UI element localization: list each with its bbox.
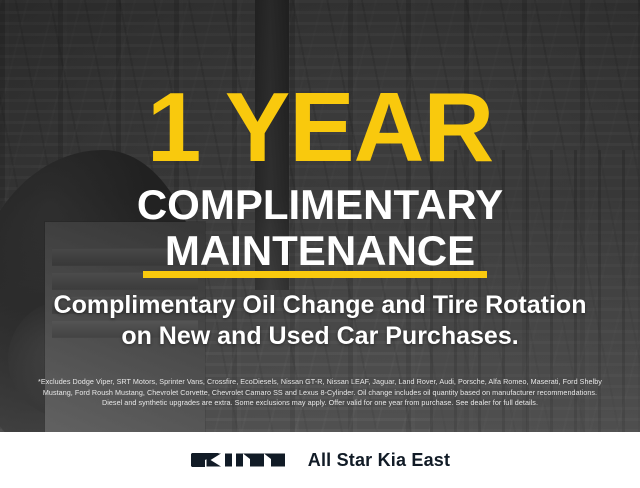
headline-primary: 1 YEAR [0, 78, 640, 176]
subheadline: Complimentary Oil Change and Tire Rotati… [0, 290, 640, 352]
hero-section: 1 YEAR COMPLIMENTARY MAINTENANCE Complim… [0, 0, 640, 432]
promo-banner: 1 YEAR COMPLIMENTARY MAINTENANCE Complim… [0, 0, 640, 488]
subheadline-line2: on New and Used Car Purchases. [0, 321, 640, 352]
headline-secondary: COMPLIMENTARY MAINTENANCE [0, 182, 640, 274]
disclaimer-line-2: Mustang, Ford Roush Mustang, Chevrolet C… [14, 388, 626, 399]
kia-logo [190, 447, 286, 473]
subheadline-line1: Complimentary Oil Change and Tire Rotati… [54, 291, 587, 319]
dealer-name: All Star Kia East [308, 450, 450, 471]
brand-footer: All Star Kia East [0, 432, 640, 488]
headline-secondary-line1: COMPLIMENTARY [137, 181, 503, 228]
hero-copy: 1 YEAR COMPLIMENTARY MAINTENANCE Complim… [0, 0, 640, 432]
disclaimer-line-1: *Excludes Dodge Viper, SRT Motors, Sprin… [14, 377, 626, 388]
disclaimer-text: *Excludes Dodge Viper, SRT Motors, Sprin… [14, 377, 626, 409]
headline-secondary-line2: MAINTENANCE [0, 228, 640, 274]
disclaimer-line-3: Diesel and synthetic upgrades are extra.… [14, 398, 626, 409]
yellow-divider-bar [143, 271, 487, 278]
